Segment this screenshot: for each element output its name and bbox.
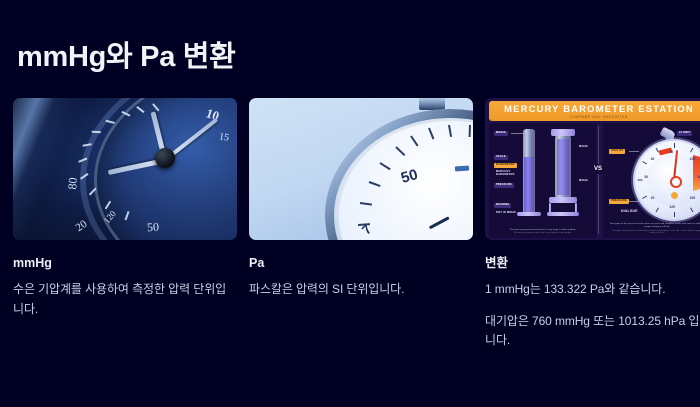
infographic-left-panel: MM/HG SCALE BAROMETER MERCURY BAROMETER … (489, 123, 596, 238)
gauge-tick (428, 128, 434, 140)
card-grid: 10 15 50 20 80 120 mmHg 수은 기압계를 사용하여 측정한… (13, 98, 700, 351)
card-pa[interactable]: 50 50 7 40 Pa 파스칼은 압력의 SI 단위입니다. (249, 98, 473, 300)
dial-number: 50 (147, 220, 160, 236)
card-conversion-thumbnail[interactable]: MERCURY BAROMETER ESTATION COMPARE AND I… (485, 98, 700, 240)
gauge-tick (395, 147, 405, 157)
gauge-tick (674, 212, 675, 217)
infographic-label: 24 MINT (677, 131, 692, 136)
cylinder-base (517, 212, 541, 216)
gauge-tick (674, 143, 675, 148)
infographic-label: BAROMETER (494, 163, 517, 168)
card-pa-title: Pa (249, 255, 473, 271)
infographic-label: PRESSURE (494, 183, 514, 188)
infographic-vs-label: VS (593, 164, 603, 174)
card-conversion-title: 변환 (485, 255, 700, 271)
dial-glare (13, 98, 125, 240)
card-mmhg-thumbnail[interactable]: 10 15 50 20 80 120 (13, 98, 237, 240)
card-conversion[interactable]: MERCURY BAROMETER ESTATION COMPARE AND I… (485, 98, 700, 351)
tube-mercury (557, 139, 569, 195)
gauge-number: 100 (690, 196, 696, 200)
gauge-tick (638, 180, 643, 181)
left-caption-text: The mercury pressure meter that is very … (510, 229, 576, 231)
infographic-banner-title: MERCURY BAROMETER ESTATION (504, 103, 694, 114)
gauge-tick (690, 148, 693, 153)
card-conversion-description-1: 1 mmHg는 133.322 Pa와 같습니다. (485, 280, 700, 299)
infographic-banner-subtitle: COMPARE AND INDICATION (570, 115, 628, 119)
mercury-barometer-infographic: MERCURY BAROMETER ESTATION COMPARE AND I… (485, 98, 700, 240)
infographic-label: MERCURY BAROMETER (494, 170, 522, 178)
gauge-tick (642, 161, 647, 164)
infographic-right-caption: Two types of the pressure of the times o… (609, 223, 700, 235)
card-conversion-description-2: 대기압은 760 mmHg 또는 1013.25 hPa 입니다. (485, 312, 700, 351)
infographic-label: DIALGUE (619, 209, 640, 215)
left-caption-sub: The mercury pressure meter that is very … (493, 232, 592, 235)
infographic-divider (598, 126, 599, 234)
card-mmhg[interactable]: 10 15 50 20 80 120 mmHg 수은 기압계를 사용하여 측정한… (13, 98, 237, 319)
gauge-hand-small (429, 217, 450, 230)
infographic-banner: MERCURY BAROMETER ESTATION COMPARE AND I… (489, 101, 700, 121)
gauge-number: 20 (669, 150, 673, 154)
infographic-side-label: MMHG (577, 145, 590, 150)
infographic-left-caption: The mercury pressure meter that is very … (493, 229, 592, 235)
gauge-face: 50 50 7 40 (339, 121, 473, 240)
dial-number: 15 (218, 131, 229, 143)
tube-cap (551, 129, 575, 136)
dial-hub (155, 148, 175, 168)
infographic-label: PRESSURE (609, 199, 629, 204)
gauge-tick (360, 202, 372, 206)
gauge-number: 120 (669, 205, 675, 209)
infographic-right-panel: 20 100 20 100 120 20 30 40 ANALOG PRESSU… (603, 123, 700, 238)
analog-gauge: 20 100 20 100 120 20 30 40 (633, 139, 700, 221)
gauge-number: 50 (399, 166, 420, 187)
infographic-side-label: MMHG (577, 179, 590, 184)
infographic-label: ANALOG (609, 149, 625, 154)
cylinder-mercury (524, 157, 534, 212)
gauge-tick (468, 124, 470, 136)
infographic-label: READING (494, 203, 511, 208)
pressure-gauge-image: 50 50 7 40 (249, 98, 473, 240)
right-caption-text: Two types of the pressure of the times o… (610, 223, 700, 228)
right-caption-sub: Two types of the pressure of the times o… (609, 230, 700, 236)
infographic-label: NOT IN MMHG (494, 211, 520, 216)
gauge-number: 20 (651, 196, 655, 200)
gauge-center-hub (670, 176, 682, 188)
barometer-dial-image: 10 15 50 20 80 120 (13, 98, 237, 240)
tube-foot (547, 212, 579, 216)
label-leader-line (511, 133, 523, 134)
label-leader-line (629, 151, 639, 152)
gauge-number: 40 (651, 157, 655, 161)
infographic-label: MM/HG (494, 131, 508, 136)
gauge-tick (656, 207, 659, 212)
infographic-label: SCALE (494, 155, 508, 160)
card-pa-description: 파스칼은 압력의 SI 단위입니다. (249, 280, 473, 299)
gauge-number: 30 (644, 175, 648, 179)
card-pa-thumbnail[interactable]: 50 50 7 40 (249, 98, 473, 240)
card-mmhg-title: mmHg (13, 255, 237, 271)
gauge-crown (419, 98, 445, 110)
gauge-tick (690, 207, 693, 212)
gauge-tick (410, 135, 418, 146)
gauge-tick (368, 181, 380, 187)
gauge-marker (455, 166, 469, 172)
gauge-number: 100 (690, 157, 696, 161)
label-leader-line (629, 201, 639, 202)
gauge-tick (642, 196, 647, 199)
gauge-tick (379, 162, 390, 170)
page-title: mmHg와 Pa 변환 (17, 33, 236, 75)
card-mmhg-description: 수은 기압계를 사용하여 측정한 압력 단위입니다. (13, 280, 237, 319)
tube-base (549, 197, 577, 203)
gauge-tick (448, 124, 452, 136)
